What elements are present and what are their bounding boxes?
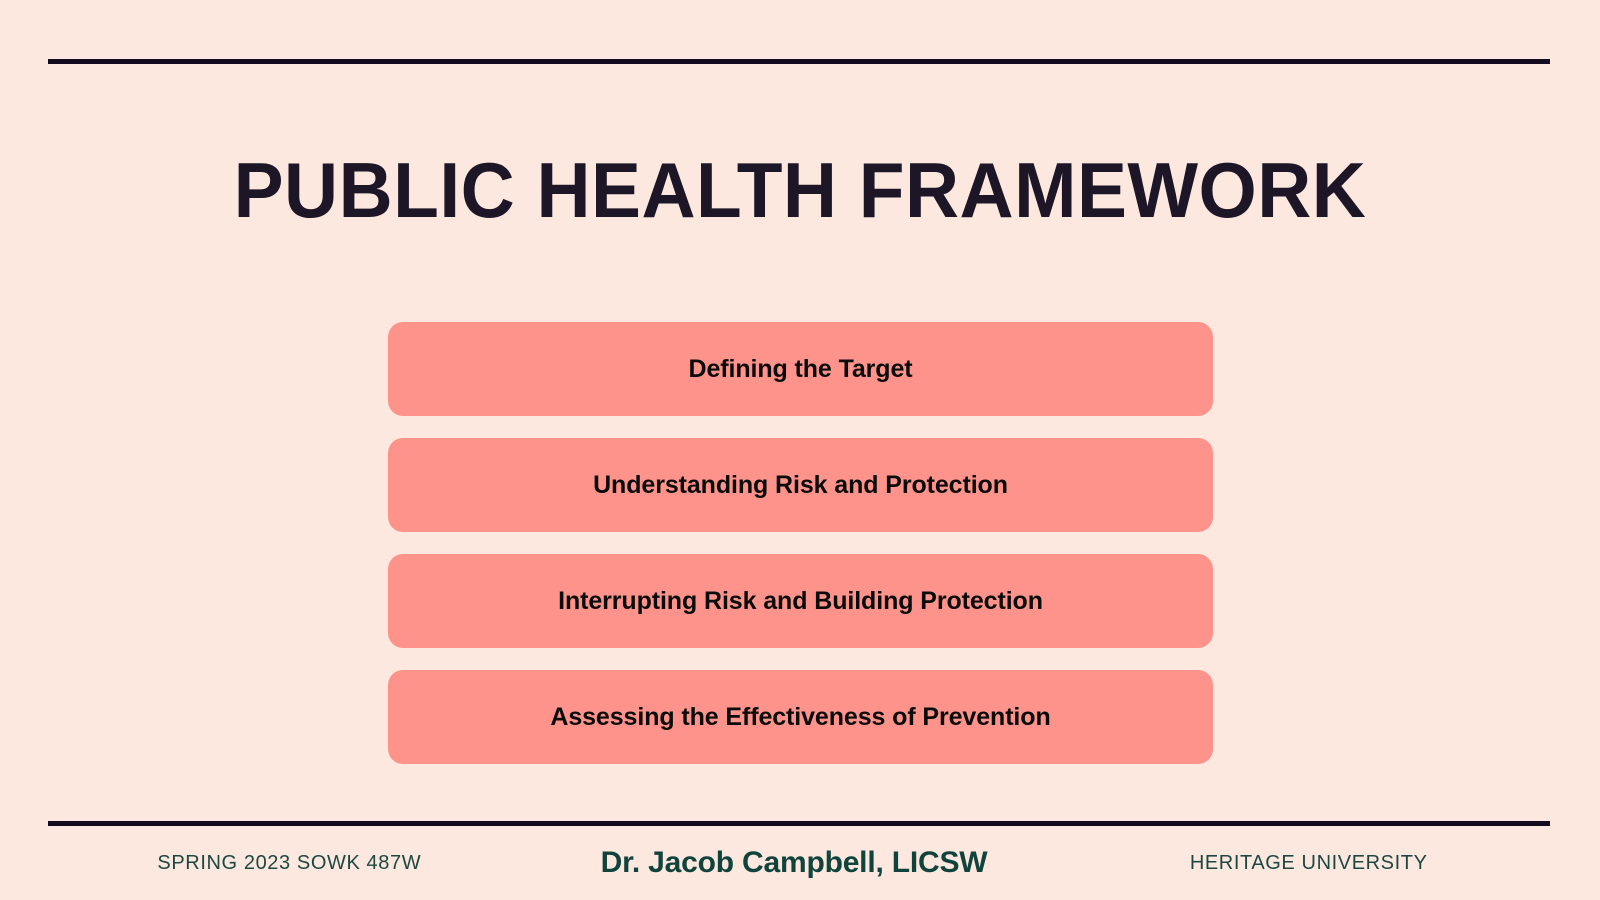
footer-institution-label: HERITAGE UNIVERSITY: [987, 852, 1550, 875]
framework-step-item[interactable]: Defining the Target: [388, 322, 1213, 416]
framework-step-label: Assessing the Effectiveness of Preventio…: [550, 703, 1050, 732]
framework-step-label: Understanding Risk and Protection: [593, 471, 1008, 500]
footer-course-label: SPRING 2023 SOWK 487W: [48, 852, 601, 875]
page-title: PUBLIC HEALTH FRAMEWORK: [32, 144, 1568, 236]
slide: PUBLIC HEALTH FRAMEWORK Defining the Tar…: [0, 0, 1600, 900]
framework-step-item[interactable]: Assessing the Effectiveness of Preventio…: [388, 670, 1213, 764]
header-divider-rule: [48, 59, 1550, 64]
footer-presenter-label: Dr. Jacob Campbell, LICSW: [601, 846, 988, 880]
framework-step-item[interactable]: Understanding Risk and Protection: [388, 438, 1213, 532]
framework-step-label: Defining the Target: [688, 355, 912, 384]
framework-step-item[interactable]: Interrupting Risk and Building Protectio…: [388, 554, 1213, 648]
framework-step-label: Interrupting Risk and Building Protectio…: [558, 587, 1043, 616]
slide-footer: SPRING 2023 SOWK 487W Dr. Jacob Campbell…: [48, 826, 1550, 900]
framework-step-list: Defining the Target Understanding Risk a…: [388, 322, 1213, 764]
